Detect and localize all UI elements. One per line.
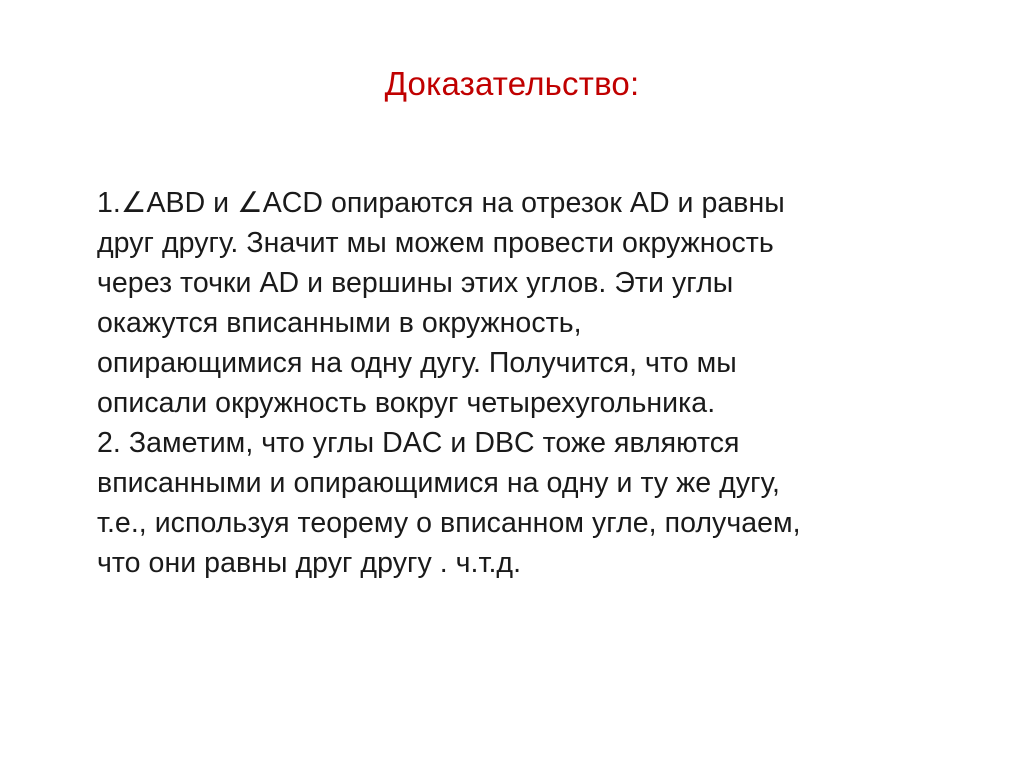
proof-step-2-line-2: вписанными и опирающимися на одну и ту ж… <box>97 463 969 503</box>
slide-title: Доказательство: <box>0 64 1024 104</box>
proof-step-1-line-4: окажутся вписанными в окружность, <box>97 303 969 343</box>
proof-step-1-line-1: 1.∠ABD и ∠ACD опираются на отрезок AD и … <box>97 183 969 223</box>
proof-step-1-line-2: друг другу. Значит мы можем провести окр… <box>97 223 969 263</box>
slide-body: 1.∠ABD и ∠ACD опираются на отрезок AD и … <box>97 183 969 583</box>
proof-step-2-line-1: 2. Заметим, что углы DAC и DBC тоже явля… <box>97 423 969 463</box>
proof-step-1-line-3: через точки AD и вершины этих углов. Эти… <box>97 263 969 303</box>
proof-step-1: 1.∠ABD и ∠ACD опираются на отрезок AD и … <box>97 183 969 423</box>
proof-step-2-line-3: т.е., используя теорему о вписанном угле… <box>97 503 969 543</box>
proof-step-1-line-5: опирающимися на одну дугу. Получится, чт… <box>97 343 969 383</box>
presentation-slide: Доказательство: 1.∠ABD и ∠ACD опираются … <box>0 0 1024 767</box>
proof-step-2: 2. Заметим, что углы DAC и DBC тоже явля… <box>97 423 969 583</box>
proof-step-2-line-4: что они равны друг другу . ч.т.д. <box>97 543 969 583</box>
proof-step-1-line-6: описали окружность вокруг четырехугольни… <box>97 383 969 423</box>
